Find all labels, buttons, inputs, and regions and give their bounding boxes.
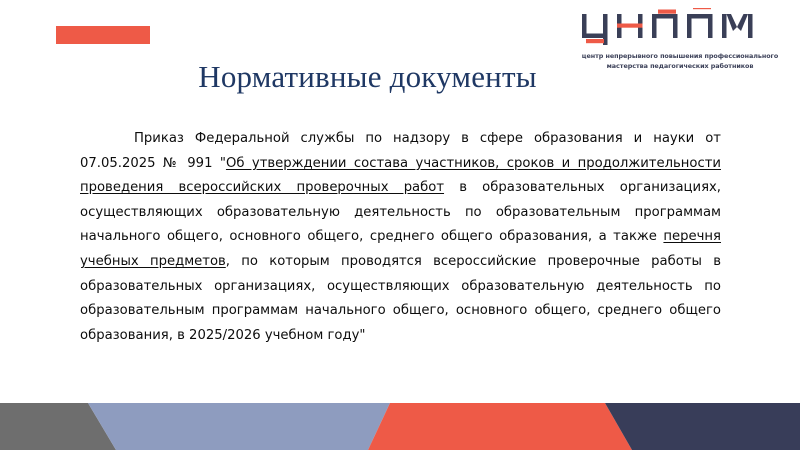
bottom-decorative-bands bbox=[0, 403, 800, 450]
page-title: Нормативные документы bbox=[0, 58, 735, 96]
slide-canvas: центр непрерывного повышения профессиона… bbox=[0, 0, 800, 450]
band-navy bbox=[605, 403, 800, 450]
band-blue bbox=[88, 403, 390, 450]
red-accent-bar bbox=[56, 26, 150, 44]
band-red bbox=[368, 403, 632, 450]
document-paragraph: Приказ Федеральной службы по надзору в с… bbox=[80, 127, 721, 348]
cnppm-logo-icon bbox=[580, 8, 780, 48]
